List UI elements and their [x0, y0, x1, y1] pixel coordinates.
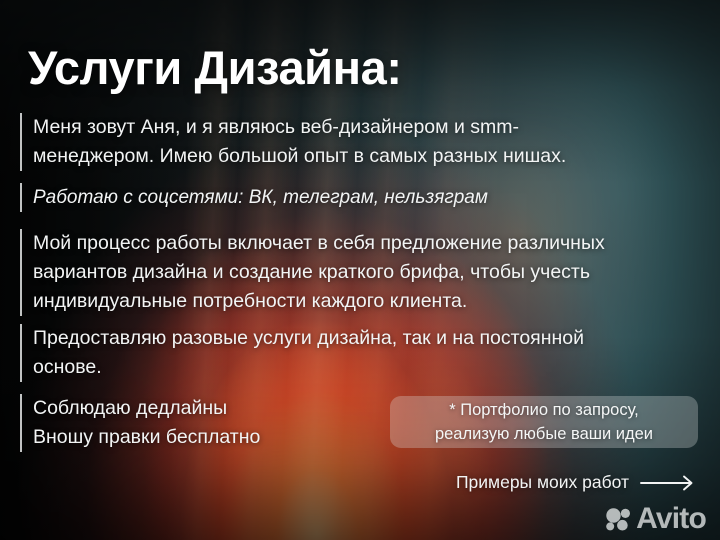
- avito-dots-logo-icon: [605, 507, 631, 531]
- bullet-process-line-2: вариантов дизайна и создание краткого бр…: [33, 258, 605, 287]
- bullet-terms-line-2: Вношу правки бесплатно: [33, 423, 260, 452]
- poster-content: Услуги Дизайна: Меня зовут Аня, и я явля…: [0, 0, 720, 540]
- bullet-service-basis: Предоставляю разовые услуги дизайна, так…: [20, 324, 584, 382]
- portfolio-badge-line-2: реализую любые ваши идеи: [435, 422, 653, 446]
- arrow-right-icon: [640, 475, 698, 491]
- bullet-intro: Меня зовут Аня, и я являюсь веб-дизайнер…: [20, 113, 566, 171]
- bullet-social-line-1: Работаю с соцсетями: ВК, телеграм, нельз…: [33, 183, 488, 212]
- portfolio-badge-line-1: * Портфолио по запросу,: [449, 398, 639, 422]
- avito-wordmark: Avito: [636, 504, 706, 534]
- bullet-terms: Соблюдаю дедлайны Вношу правки бесплатно: [20, 394, 260, 452]
- cta-row[interactable]: Примеры моих работ: [420, 472, 698, 493]
- bullet-basis-line-2: основе.: [33, 353, 584, 382]
- bullet-intro-line-2: менеджером. Имею большой опыт в самых ра…: [33, 142, 566, 171]
- bullet-terms-line-1: Соблюдаю дедлайны: [33, 394, 260, 423]
- bullet-intro-line-1: Меня зовут Аня, и я являюсь веб-дизайнер…: [33, 113, 566, 142]
- portfolio-badge: * Портфолио по запросу, реализую любые в…: [390, 396, 698, 448]
- design-services-poster: Услуги Дизайна: Меня зовут Аня, и я явля…: [0, 0, 720, 540]
- cta-label: Примеры моих работ: [456, 472, 629, 493]
- bullet-process-line-1: Мой процесс работы включает в себя предл…: [33, 229, 605, 258]
- bullet-basis-line-1: Предоставляю разовые услуги дизайна, так…: [33, 324, 584, 353]
- bullet-social-networks: Работаю с соцсетями: ВК, телеграм, нельз…: [20, 183, 488, 212]
- avito-watermark: Avito: [605, 504, 706, 534]
- page-title: Услуги Дизайна:: [28, 40, 402, 95]
- bullet-process-line-3: индивидуальные потребности каждого клиен…: [33, 287, 605, 316]
- bullet-work-process: Мой процесс работы включает в себя предл…: [20, 229, 605, 316]
